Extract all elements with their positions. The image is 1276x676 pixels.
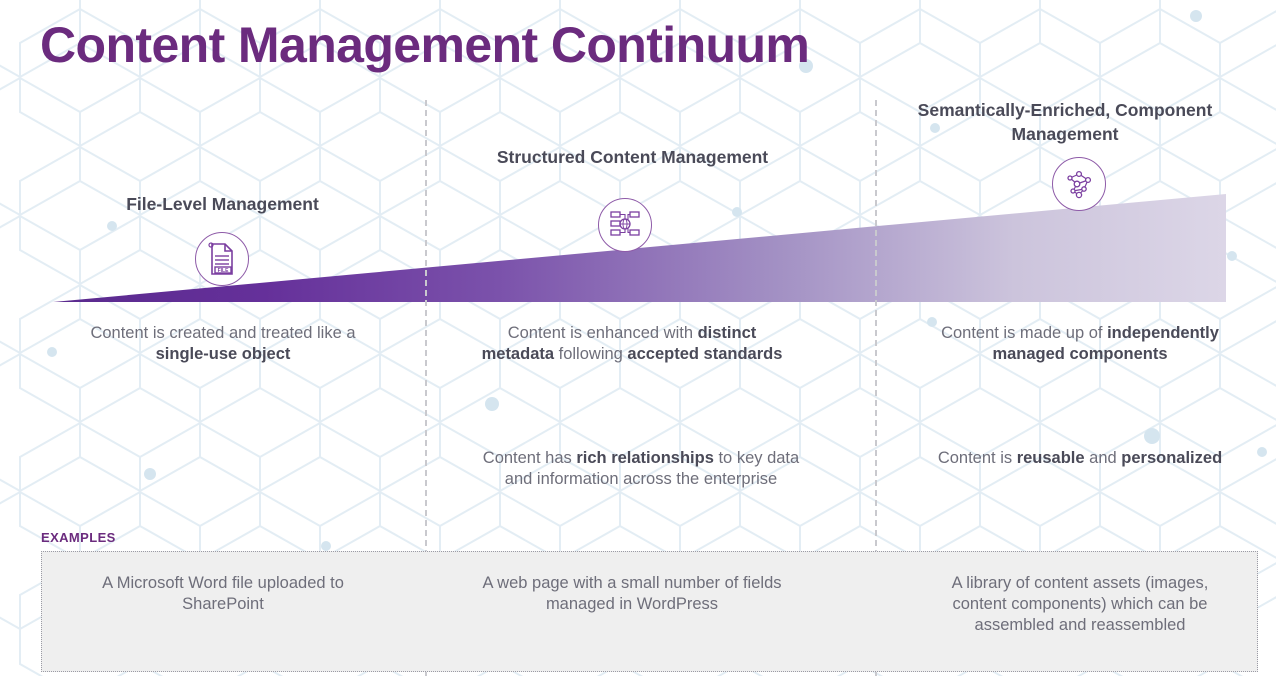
example-cell-2: A web page with a small number of fields…	[470, 573, 794, 615]
examples-label: EXAMPLES	[41, 530, 116, 545]
example-cell-1: A Microsoft Word file uploaded to ShareP…	[62, 573, 384, 615]
desc-2-part-a: Content is enhanced with	[508, 324, 698, 342]
column-description-3-secondary: Content is reusable and personalized	[928, 448, 1232, 469]
desc-1-part-c: single-use object	[156, 345, 291, 363]
desc-3-part-a: Content is made up of	[941, 324, 1107, 342]
column-heading-structured-content: Structured Content Management	[470, 145, 795, 169]
desc-3b-part-b: reusable	[1017, 449, 1085, 467]
infographic-canvas: Content Management Continuum File-Level …	[0, 0, 1276, 676]
example-cell-3: A library of content assets (images, con…	[928, 573, 1232, 636]
desc-1-part-b: like a	[317, 324, 356, 342]
column-description-3: Content is made up of independently mana…	[928, 323, 1232, 365]
column-description-2: Content is enhanced with distinct metada…	[470, 323, 794, 365]
page-title: Content Management Continuum	[40, 16, 809, 74]
desc-3b-part-c: and	[1085, 449, 1122, 467]
file-document-icon: FILE	[195, 232, 249, 286]
column-heading-semantically-enriched: Semantically-Enriched, Component Managem…	[915, 98, 1215, 146]
desc-2-part-d: accepted standards	[627, 345, 782, 363]
column-description-1: Content is created and treated like a si…	[62, 323, 384, 365]
desc-2b-part-b: rich relationships	[576, 449, 714, 467]
desc-3b-part-d: personalized	[1121, 449, 1222, 467]
column-heading-file-level: File-Level Management	[60, 192, 385, 216]
desc-1-part-a: Content is created and treated	[90, 324, 317, 342]
column-description-2-secondary: Content has rich relationships to key da…	[470, 448, 812, 490]
desc-2b-part-a: Content has	[483, 449, 577, 467]
structured-content-icon	[598, 198, 652, 252]
desc-3b-part-a: Content is	[938, 449, 1017, 467]
desc-2-part-c: following	[554, 345, 627, 363]
node-network-icon	[1052, 157, 1106, 211]
svg-text:FILE: FILE	[218, 268, 229, 274]
